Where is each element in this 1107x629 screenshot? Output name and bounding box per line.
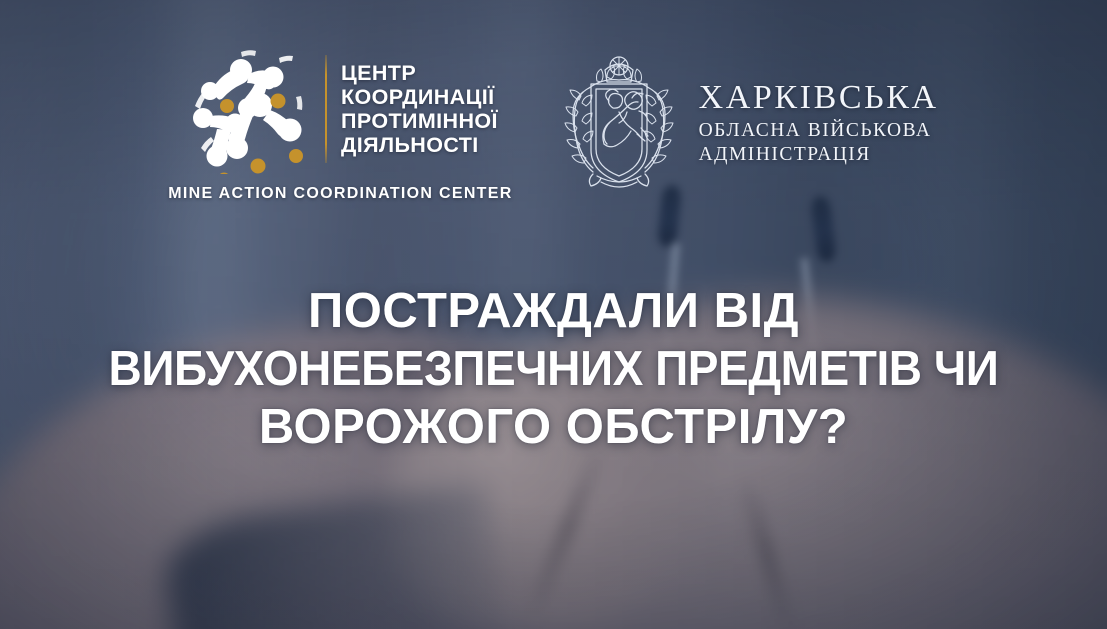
macc-title-line-4: ДІЯЛЬНОСТІ <box>341 133 498 157</box>
macc-title: ЦЕНТР КООРДИНАЦІЇ ПРОТИМІННОЇ ДІЯЛЬНОСТІ <box>341 61 498 157</box>
headline: ПОСТРАЖДАЛИ ВІД ВИБУХОНЕБЕЗПЕЧНИХ ПРЕДМЕ… <box>0 283 1107 456</box>
macc-title-line-1: ЦЕНТР <box>341 61 498 85</box>
mine-action-network-mark-icon <box>183 44 311 174</box>
macc-subtitle: MINE ACTION COORDINATION CENTER <box>168 185 512 203</box>
macc-title-line-3: ПРОТИМІННОЇ <box>341 109 498 133</box>
ova-title-line-3: АДМІНІСТРАЦІЯ <box>699 143 939 167</box>
logo-divider <box>325 55 327 163</box>
macc-title-line-2: КООРДИНАЦІЇ <box>341 85 498 109</box>
kharkiv-ova-logo: ХАРКІВСЬКА ОБЛАСНА ВІЙСЬКОВА АДМІНІСТРАЦ… <box>557 48 939 198</box>
headline-line-2: ВИБУХОНЕБЕЗПЕЧНИХ ПРЕДМЕТІВ ЧИ <box>33 341 1074 399</box>
macc-logo: ЦЕНТР КООРДИНАЦІЇ ПРОТИМІННОЇ ДІЯЛЬНОСТІ… <box>168 44 512 203</box>
logo-row: ЦЕНТР КООРДИНАЦІЇ ПРОТИМІННОЇ ДІЯЛЬНОСТІ… <box>0 44 1107 203</box>
ova-title: ХАРКІВСЬКА ОБЛАСНА ВІЙСЬКОВА АДМІНІСТРАЦ… <box>699 80 939 167</box>
ova-title-line-1: ХАРКІВСЬКА <box>699 80 939 115</box>
ova-title-line-2: ОБЛАСНА ВІЙСЬКОВА <box>699 119 939 143</box>
headline-line-3: ВОРОЖОГО ОБСТРІЛУ? <box>0 399 1107 457</box>
kharkiv-oblast-coat-of-arms-icon <box>557 48 681 198</box>
headline-line-1: ПОСТРАЖДАЛИ ВІД <box>0 283 1107 341</box>
public-information-banner: ЦЕНТР КООРДИНАЦІЇ ПРОТИМІННОЇ ДІЯЛЬНОСТІ… <box>0 0 1107 629</box>
